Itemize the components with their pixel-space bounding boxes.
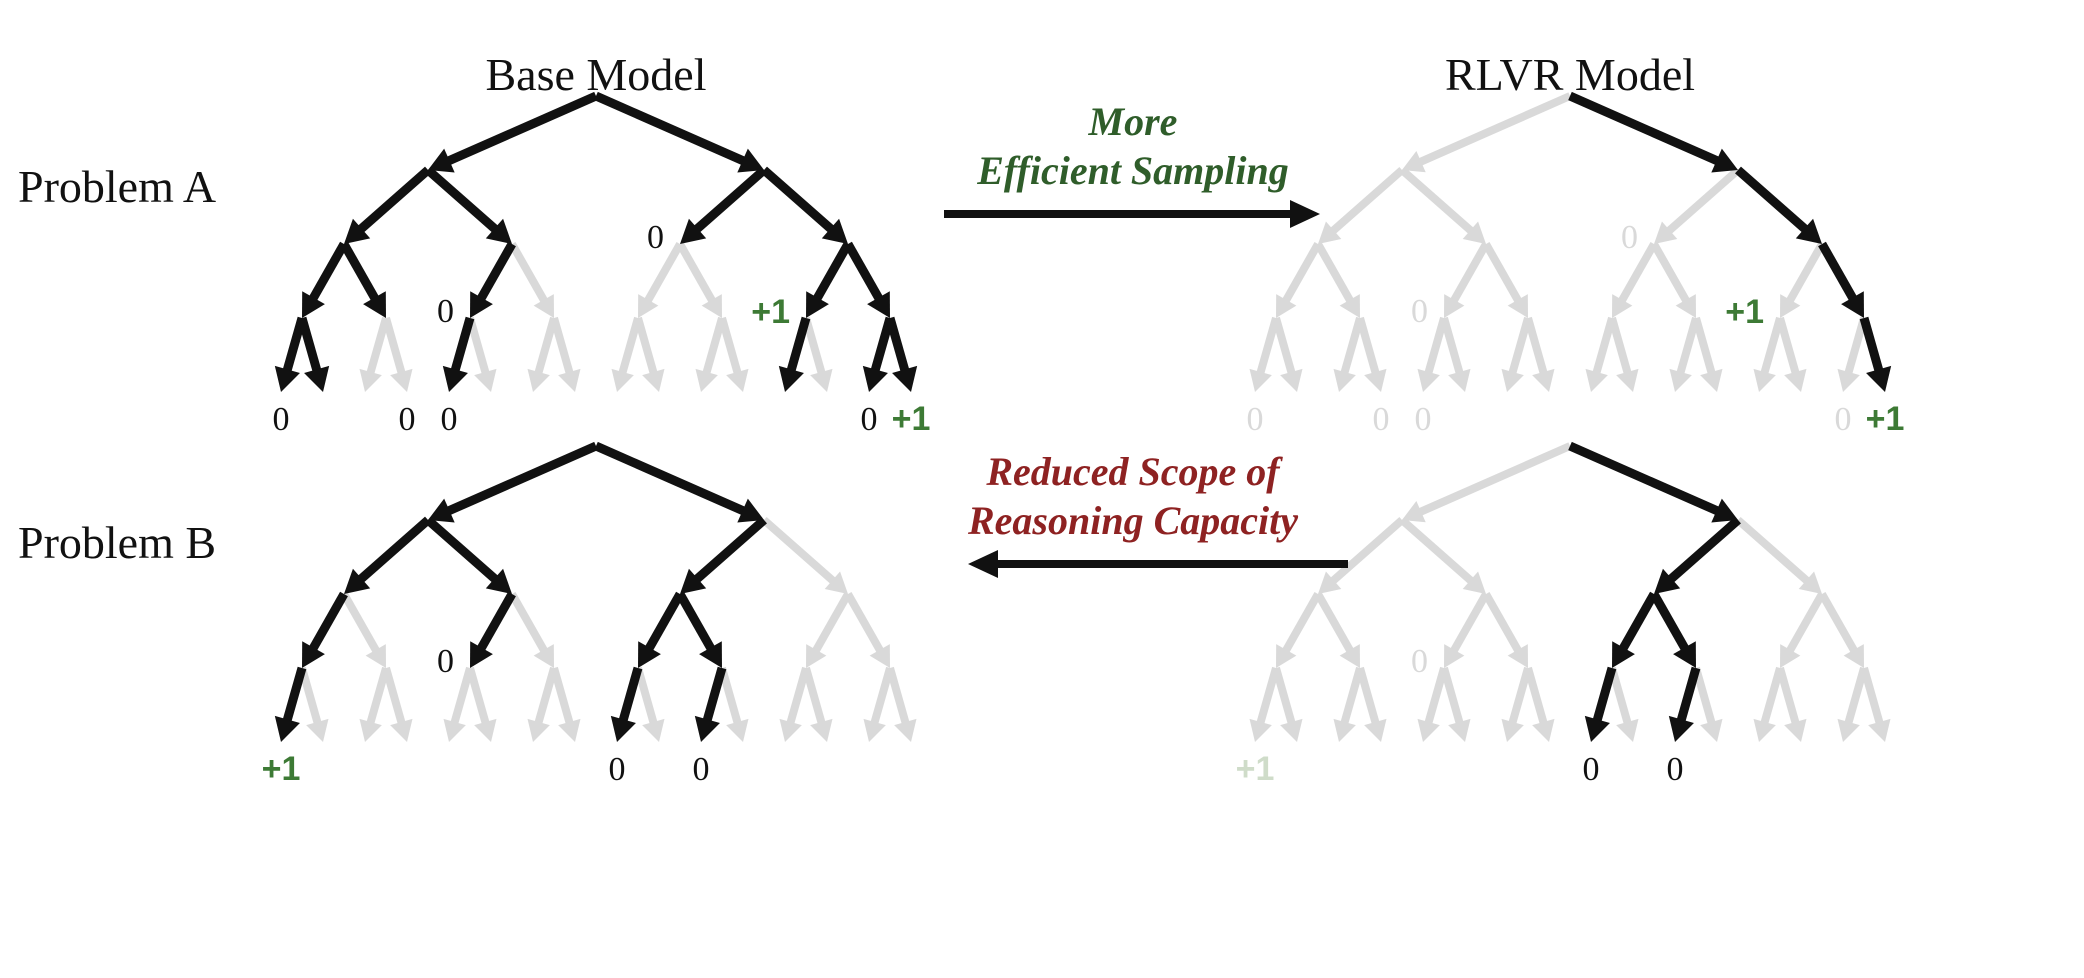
leaf-label-zero: 0: [1373, 401, 1390, 438]
leaf-label-plus-one: +1: [262, 750, 301, 788]
reward-label-plus-one: +1: [1725, 293, 1764, 331]
leaf-label-zero: 0: [609, 751, 626, 788]
leaf-label-zero: 0: [693, 751, 710, 788]
tree-diagram-svg: 00+10000+100+10000+10+1000+100: [0, 0, 2084, 978]
leaf-label-zero: 0: [399, 401, 416, 438]
tree-problem-b-base: 0+100: [262, 446, 917, 788]
transition-arrow-left: [968, 550, 1348, 578]
leaf-label-zero: 0: [1667, 751, 1684, 788]
reward-label-zero: 0: [1411, 643, 1428, 680]
leaf-label-zero: 0: [1835, 401, 1852, 438]
leaf-label-plus-one: +1: [892, 400, 931, 438]
reward-label-plus-one: +1: [751, 293, 790, 331]
tree-problem-a-base: 00+10000+1: [273, 96, 931, 438]
figure-canvas: Base Model RLVR Model Problem A Problem …: [0, 0, 2084, 978]
reward-label-zero: 0: [647, 219, 664, 256]
leaf-label-zero: 0: [273, 401, 290, 438]
leaf-label-plus-one: +1: [1866, 400, 1905, 438]
tree-problem-a-rlvr: 00+10000+1: [1247, 96, 1905, 438]
reward-label-zero: 0: [437, 643, 454, 680]
leaf-label-zero: 0: [861, 401, 878, 438]
leaf-label-zero: 0: [1247, 401, 1264, 438]
transition-arrow-right: [944, 200, 1320, 228]
leaf-label-zero: 0: [441, 401, 458, 438]
leaf-label-plus-one: +1: [1236, 750, 1275, 788]
leaf-label-zero: 0: [1415, 401, 1432, 438]
reward-label-zero: 0: [437, 293, 454, 330]
reward-label-zero: 0: [1621, 219, 1638, 256]
reward-label-zero: 0: [1411, 293, 1428, 330]
leaf-label-zero: 0: [1583, 751, 1600, 788]
tree-problem-b-rlvr: 0+100: [1236, 446, 1891, 788]
